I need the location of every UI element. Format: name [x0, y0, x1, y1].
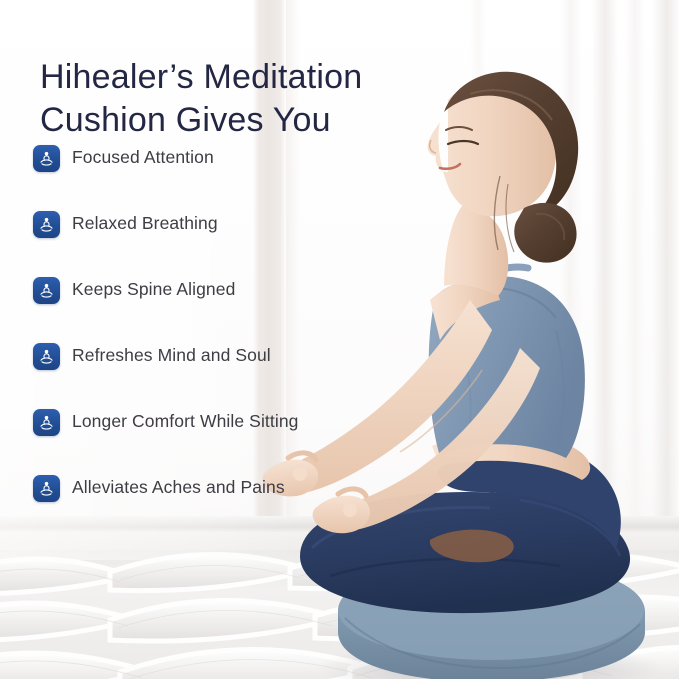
list-item: Alleviates Aches and Pains [33, 472, 433, 504]
benefits-list: Focused Attention Relaxed Breathing [33, 142, 433, 504]
meditation-lotus-icon [33, 211, 60, 238]
benefit-label: Relaxed Breathing [72, 215, 218, 233]
list-item: Focused Attention [33, 142, 433, 174]
benefit-label: Alleviates Aches and Pains [72, 479, 285, 497]
list-item: Relaxed Breathing [33, 208, 433, 240]
meditation-lotus-icon [33, 475, 60, 502]
benefit-label: Longer Comfort While Sitting [72, 413, 299, 431]
meditation-lotus-icon [33, 145, 60, 172]
product-feature-image: Hihealer’s Meditation Cushion Gives You … [0, 0, 679, 679]
list-item: Longer Comfort While Sitting [33, 406, 433, 438]
benefit-label: Focused Attention [72, 149, 214, 167]
page-title: Hihealer’s Meditation Cushion Gives You [40, 56, 460, 142]
meditation-lotus-icon [33, 409, 60, 436]
benefit-label: Keeps Spine Aligned [72, 281, 235, 299]
meditation-lotus-icon [33, 277, 60, 304]
benefit-label: Refreshes Mind and Soul [72, 347, 271, 365]
meditation-lotus-icon [33, 343, 60, 370]
list-item: Refreshes Mind and Soul [33, 340, 433, 372]
hair-bun [514, 203, 576, 263]
list-item: Keeps Spine Aligned [33, 274, 433, 306]
